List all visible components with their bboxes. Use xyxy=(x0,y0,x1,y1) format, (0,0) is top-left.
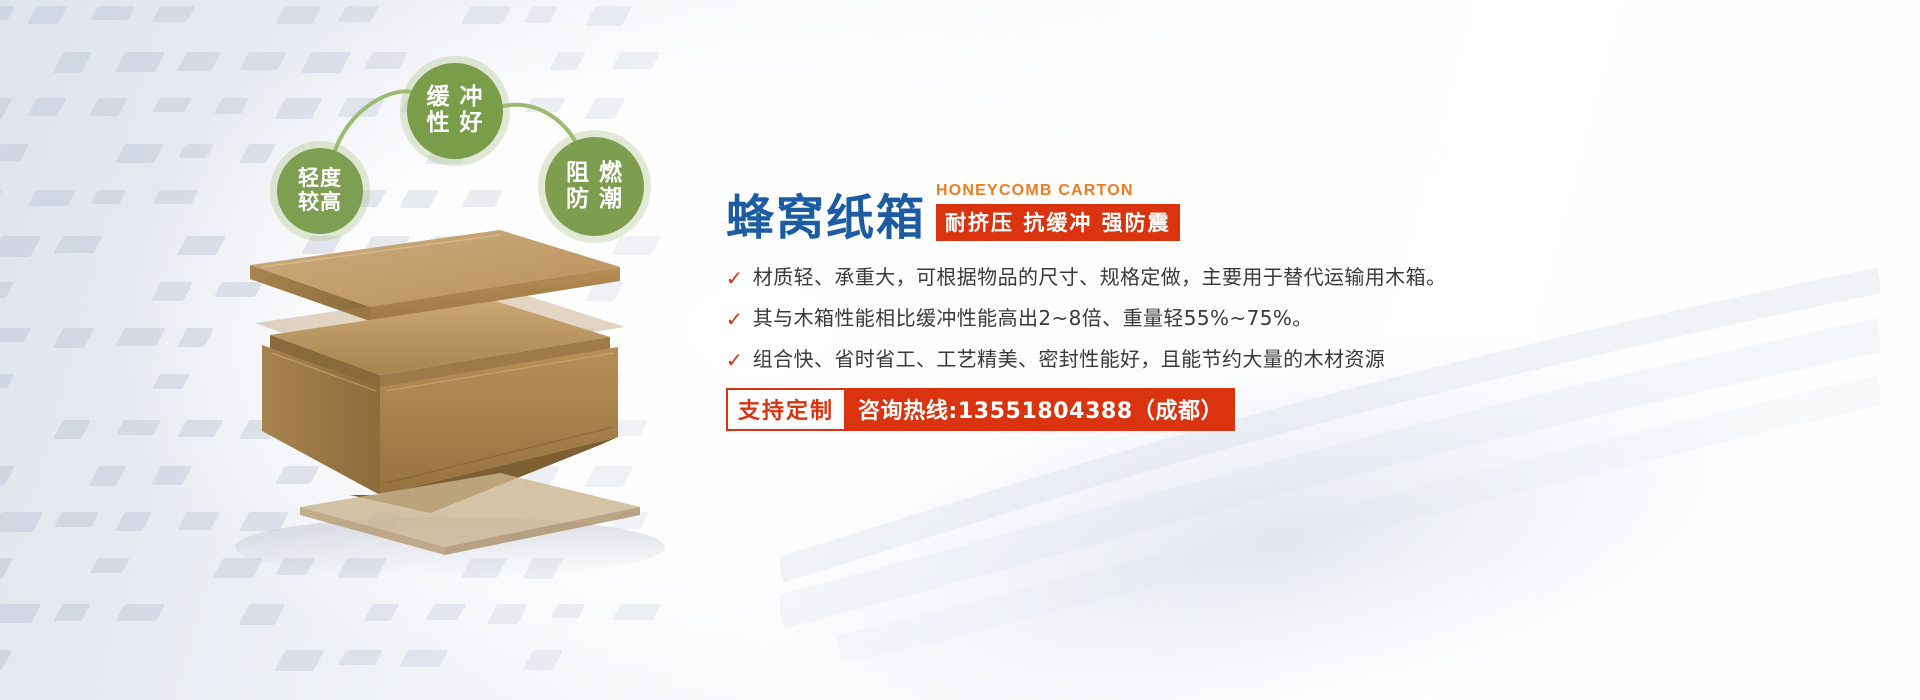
background-tile xyxy=(0,144,30,161)
background-tile xyxy=(461,6,512,24)
background-tile xyxy=(0,512,43,532)
background-tile xyxy=(115,52,166,72)
background-tile xyxy=(487,604,529,624)
product-image-honeycomb-carton xyxy=(200,195,720,595)
background-tile xyxy=(90,6,135,20)
background-tile xyxy=(115,604,165,621)
background-tile xyxy=(0,650,12,670)
background-tile xyxy=(178,144,213,158)
background-tile xyxy=(53,236,102,253)
background-tile xyxy=(550,604,585,618)
carton-body xyxy=(255,287,625,513)
background-tile xyxy=(0,374,15,388)
background-tile xyxy=(53,328,95,348)
background-tile xyxy=(274,650,324,671)
background-tile xyxy=(28,190,77,206)
background-tile xyxy=(152,6,196,22)
background-tile xyxy=(152,190,198,204)
check-icon: ✓ xyxy=(726,350,744,370)
background-tile xyxy=(151,466,192,485)
background-tile xyxy=(151,282,193,301)
banner-content: 蜂窝纸箱 HONEYCOMB CARTON 耐挤压 抗缓冲 强防震 ✓ 材质轻、… xyxy=(726,186,1846,431)
feature-circle-cushioning-line2: 性 好 xyxy=(426,111,483,137)
background-tile xyxy=(152,98,191,112)
background-tile xyxy=(238,604,285,625)
list-item-text: 材质轻、承重大，可根据物品的尺寸、规格定做，主要用于替代运输用木箱。 xyxy=(753,265,1447,290)
background-tile xyxy=(90,190,126,204)
background-tile xyxy=(0,282,14,298)
list-item-text: 组合快、省时省工、工艺精美、密封性能好，且能节约大量的木材资源 xyxy=(753,347,1385,372)
feature-circle-cushioning[interactable]: 缓 冲 性 好 xyxy=(407,63,503,159)
background-tile xyxy=(523,6,558,23)
custom-order-badge: 支持定制 xyxy=(726,388,846,431)
background-tile xyxy=(0,558,13,578)
feature-circle-cushioning-line1: 缓 冲 xyxy=(426,85,483,111)
background-tile xyxy=(0,236,42,257)
background-tile xyxy=(116,420,161,435)
background-tile xyxy=(0,328,32,342)
contact-bar: 支持定制 咨询热线:13551804388（成都） xyxy=(726,388,1846,431)
background-tile xyxy=(27,6,68,24)
background-tile xyxy=(53,604,90,621)
promo-banner: 轻度 较高 缓 冲 性 好 阻 燃 防 潮 xyxy=(0,0,1920,700)
background-tile xyxy=(0,6,15,20)
background-tile xyxy=(177,52,221,71)
list-item: ✓ 其与木箱性能相比缓冲性能高出2~8倍、重量轻55%~75%。 xyxy=(726,306,1846,331)
list-item-text: 其与木箱性能相比缓冲性能高出2~8倍、重量轻55%~75%。 xyxy=(753,306,1313,331)
feature-bullet-list: ✓ 材质轻、承重大，可根据物品的尺寸、规格定做，主要用于替代运输用木箱。 ✓ 其… xyxy=(726,265,1846,372)
background-tile xyxy=(152,374,190,389)
background-tile xyxy=(52,52,92,73)
background-tile xyxy=(523,650,564,670)
background-tile xyxy=(338,6,380,22)
background-tile xyxy=(115,144,164,163)
background-tile xyxy=(426,604,467,620)
heading-row: 蜂窝纸箱 HONEYCOMB CARTON 耐挤压 抗缓冲 强防震 xyxy=(726,186,1846,242)
background-tile xyxy=(90,558,130,573)
background-tile xyxy=(115,328,166,346)
background-tile xyxy=(53,420,91,439)
background-tile xyxy=(0,98,13,119)
background-tile xyxy=(363,604,399,621)
background-tile xyxy=(0,190,3,211)
background-tile xyxy=(89,466,127,486)
list-item: ✓ 组合快、省时省工、工艺精美、密封性能好，且能节约大量的木材资源 xyxy=(726,347,1846,372)
background-tile xyxy=(275,6,322,24)
check-icon: ✓ xyxy=(726,309,744,329)
background-tile xyxy=(214,98,250,114)
background-tile xyxy=(54,512,99,527)
background-tile xyxy=(399,650,448,667)
background-tile xyxy=(612,604,662,620)
background-tile xyxy=(338,650,383,665)
background-tile xyxy=(89,98,128,116)
background-tile xyxy=(0,466,15,485)
background-tile xyxy=(585,6,633,26)
page-title-english: HONEYCOMB CARTON xyxy=(936,182,1180,200)
slogan-badge: 耐挤压 抗缓冲 强防震 xyxy=(936,204,1180,241)
list-item: ✓ 材质轻、承重大，可根据物品的尺寸、规格定做，主要用于替代运输用木箱。 xyxy=(726,265,1846,290)
feature-circle-lightweight-line1: 轻度 xyxy=(298,167,342,191)
page-title: 蜂窝纸箱 xyxy=(726,194,926,242)
background-tile xyxy=(115,512,152,531)
background-tile xyxy=(27,98,67,116)
hotline-badge[interactable]: 咨询热线:13551804388（成都） xyxy=(846,388,1235,431)
heading-side: HONEYCOMB CARTON 耐挤压 抗缓冲 强防震 xyxy=(936,182,1180,242)
feature-circle-flame-moisture-line1: 阻 燃 xyxy=(566,161,623,187)
check-icon: ✓ xyxy=(726,268,744,288)
background-tile xyxy=(0,604,41,623)
